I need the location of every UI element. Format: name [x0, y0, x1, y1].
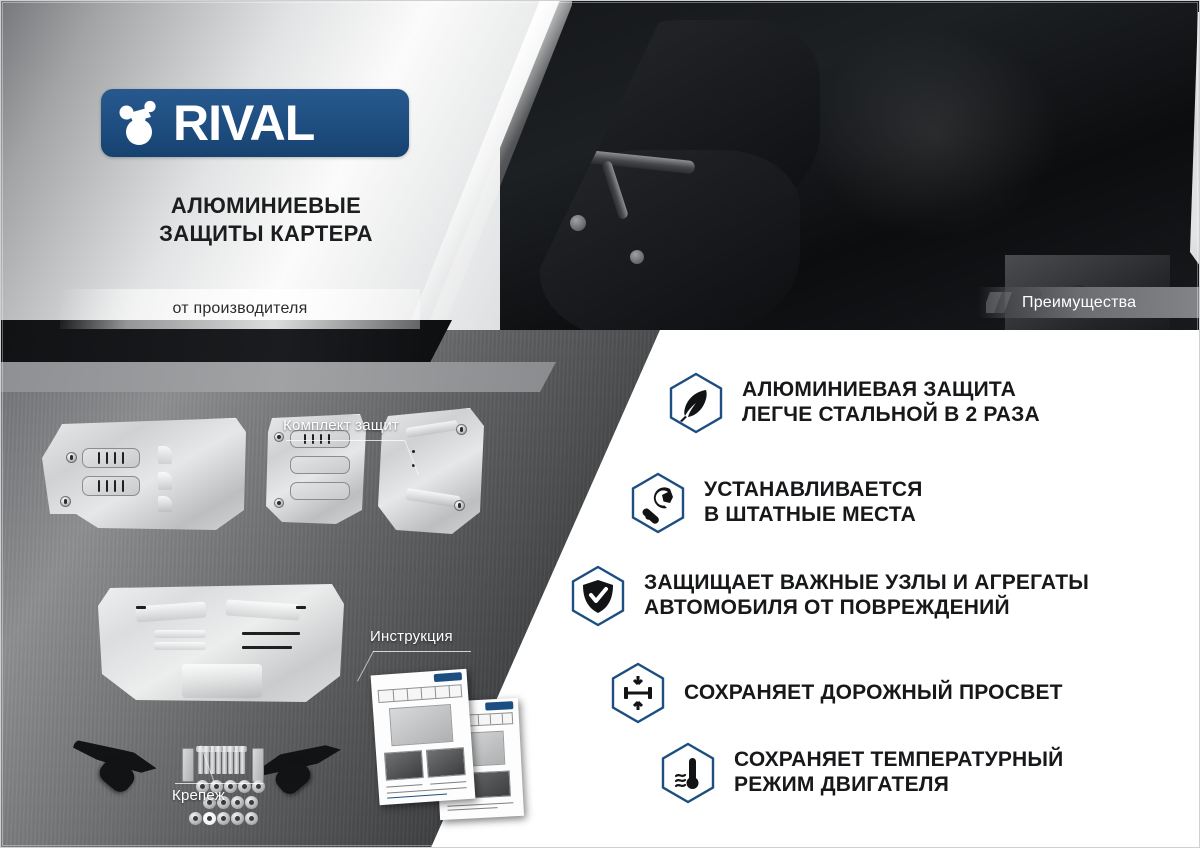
logo-wordmark: RIVAL: [173, 98, 314, 148]
label-hardware: Крепеж: [172, 787, 225, 804]
feature-item-protection: ЗАЩИЩАЕТ ВАЖНЫЕ УЗЛЫ И АГРЕГАТЫ АВТОМОБИ…: [570, 565, 1089, 627]
feature-label: АЛЮМИНИЕВАЯ ЗАЩИТА ЛЕГЧЕ СТАЛЬНОЙ В 2 РА…: [742, 378, 1040, 428]
wrench-icon: [630, 472, 686, 534]
molecule-icon: [115, 97, 169, 149]
leader-line-kit: [286, 440, 404, 441]
feature-label: СОХРАНЯЕТ ТЕМПЕРАТУРНЫЙ РЕЖИМ ДВИГАТЕЛЯ: [734, 748, 1063, 798]
feature-item-weight: АЛЮМИНИЕВАЯ ЗАЩИТА ЛЕГЧЕ СТАЛЬНОЙ В 2 РА…: [668, 372, 1040, 434]
feature-item-fitment: УСТАНАВЛИВАЕТСЯ В ШТАТНЫЕ МЕСТА: [630, 472, 923, 534]
thermometer-icon: [660, 742, 716, 804]
double-chevron-icon: [986, 291, 1020, 314]
rival-logo: RIVAL: [101, 89, 409, 157]
installed-skid-plate: [1190, 12, 1200, 312]
leader-line-hardware: [175, 783, 263, 784]
feature-item-clearance: СОХРАНЯЕТ ДОРОЖНЫЙ ПРОСВЕТ: [610, 662, 1063, 724]
advantages-tab[interactable]: Преимущества: [978, 287, 1200, 318]
bushing: [630, 250, 644, 264]
poster-canvas: RIVAL АЛЮМИНИЕВЫЕ ЗАЩИТЫ КАРТЕРА от прои…: [0, 0, 1200, 848]
instruction-sheet-front: [371, 669, 476, 805]
feature-label: СОХРАНЯЕТ ДОРОЖНЫЙ ПРОСВЕТ: [684, 681, 1063, 706]
page-title: АЛЮМИНИЕВЫЕ ЗАЩИТЫ КАРТЕРА: [101, 192, 431, 248]
feature-item-temperature: СОХРАНЯЕТ ТЕМПЕРАТУРНЫЙ РЕЖИМ ДВИГАТЕЛЯ: [660, 742, 1063, 804]
subtitle: от производителя: [173, 300, 308, 318]
subtitle-band: от производителя: [60, 289, 420, 329]
shield-check-icon: [570, 565, 626, 627]
skid-plate-engine: [96, 578, 346, 708]
feature-label: УСТАНАВЛИВАЕТСЯ В ШТАТНЫЕ МЕСТА: [704, 478, 923, 528]
advantages-tab-label: Преимущества: [1022, 294, 1136, 312]
ball-joint: [570, 215, 586, 231]
label-kit: Комплект защит: [283, 417, 399, 434]
leader-line-instruction: [373, 651, 471, 652]
feature-label: ЗАЩИЩАЕТ ВАЖНЫЕ УЗЛЫ И АГРЕГАТЫ АВТОМОБИ…: [644, 571, 1089, 621]
skid-plate-large: [40, 418, 255, 536]
feather-icon: [668, 372, 724, 434]
ground-clearance-icon: [610, 662, 666, 724]
label-instruction: Инструкция: [370, 628, 453, 645]
